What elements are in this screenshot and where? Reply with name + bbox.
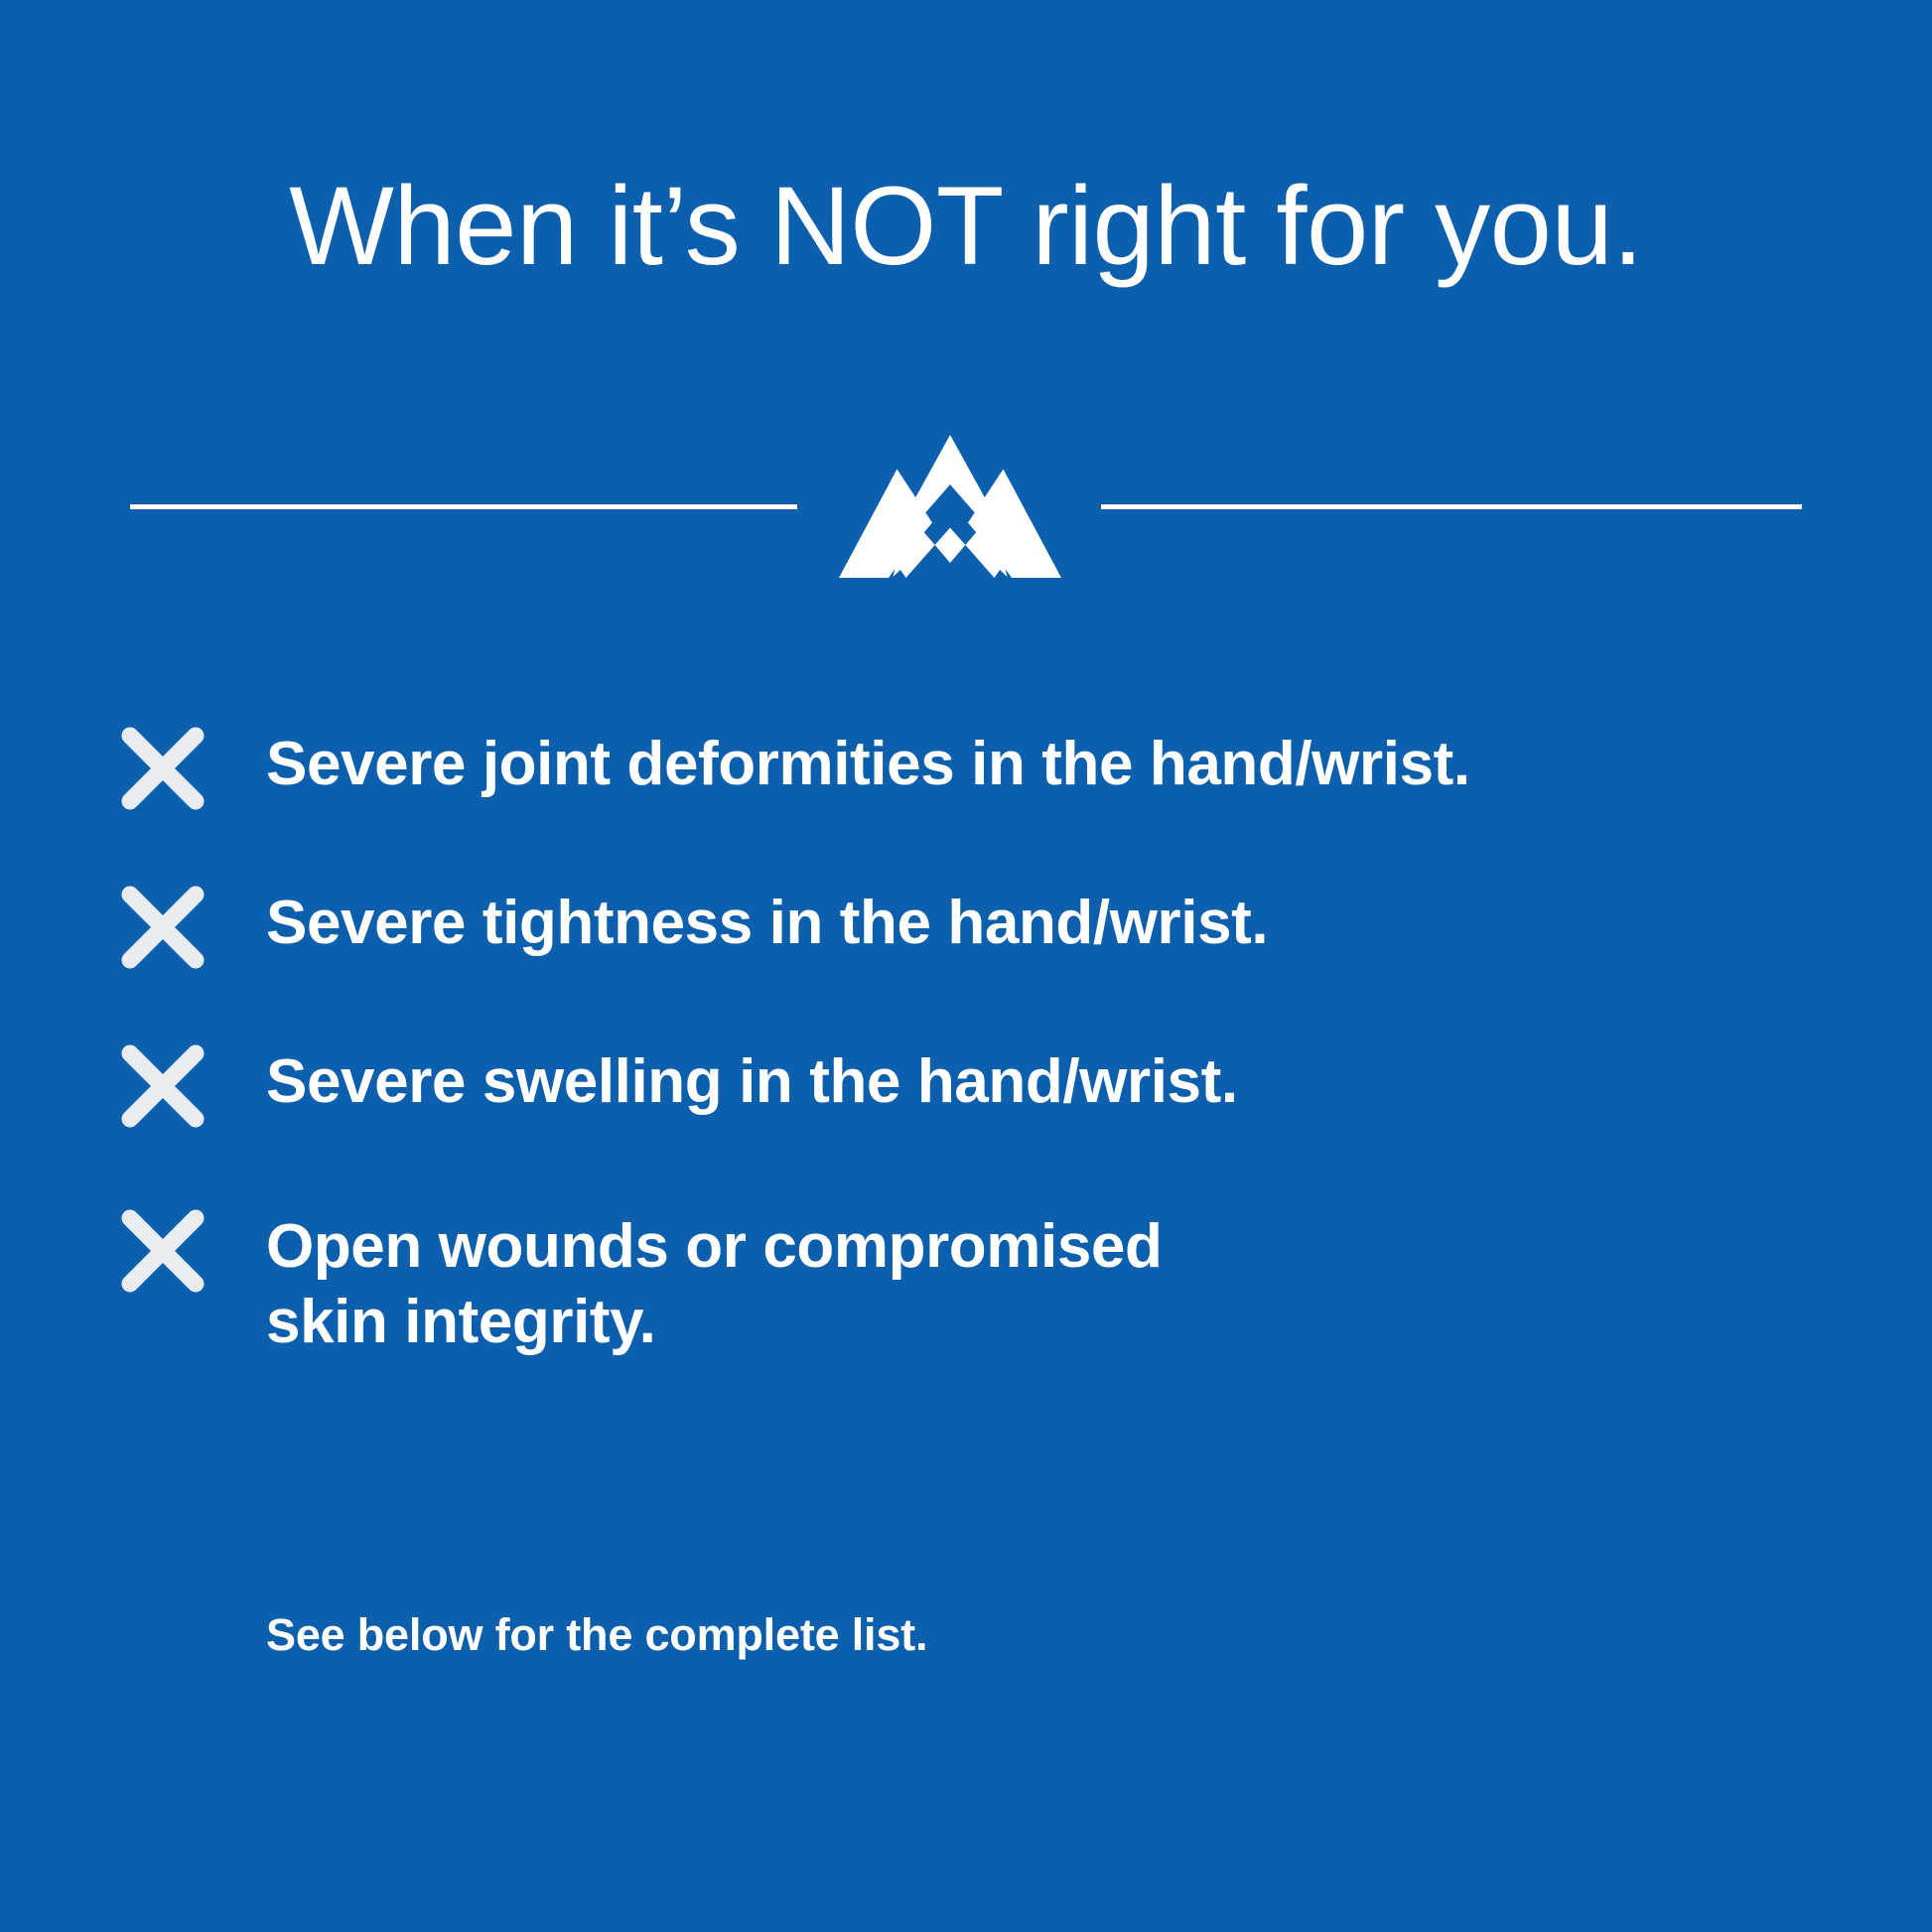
page-title: When it’s NOT right for you. <box>0 171 1932 282</box>
poster-canvas: When it’s NOT right for you. <box>0 0 1932 1932</box>
list-item-label: Severe joint deformities in the hand/wri… <box>266 721 1470 802</box>
contraindication-list: Severe joint deformities in the hand/wri… <box>117 721 1884 1359</box>
list-item: Severe swelling in the hand/wrist. <box>117 1038 1884 1132</box>
mountain-peaks-logo <box>837 427 1063 586</box>
divider-rule-right <box>1101 504 1802 509</box>
divider <box>0 427 1932 586</box>
list-item: Open wounds or compromised skin integrit… <box>117 1203 1884 1359</box>
list-item-label: Open wounds or compromised skin integrit… <box>266 1203 1162 1359</box>
divider-rule-left <box>130 504 797 509</box>
list-item-label-line1: Open wounds or compromised <box>266 1212 1162 1281</box>
list-item-label: Severe swelling in the hand/wrist. <box>266 1038 1238 1120</box>
x-mark-icon <box>117 723 208 814</box>
list-item: Severe joint deformities in the hand/wri… <box>117 721 1884 814</box>
list-item: Severe tightness in the hand/wrist. <box>117 880 1884 973</box>
x-mark-icon <box>117 882 208 973</box>
list-item-label: Severe tightness in the hand/wrist. <box>266 880 1268 961</box>
list-item-label-line2: skin integrity. <box>266 1288 656 1356</box>
footer-note: See below for the complete list. <box>266 1608 927 1662</box>
x-mark-icon <box>117 1205 208 1297</box>
x-mark-icon <box>117 1040 208 1132</box>
